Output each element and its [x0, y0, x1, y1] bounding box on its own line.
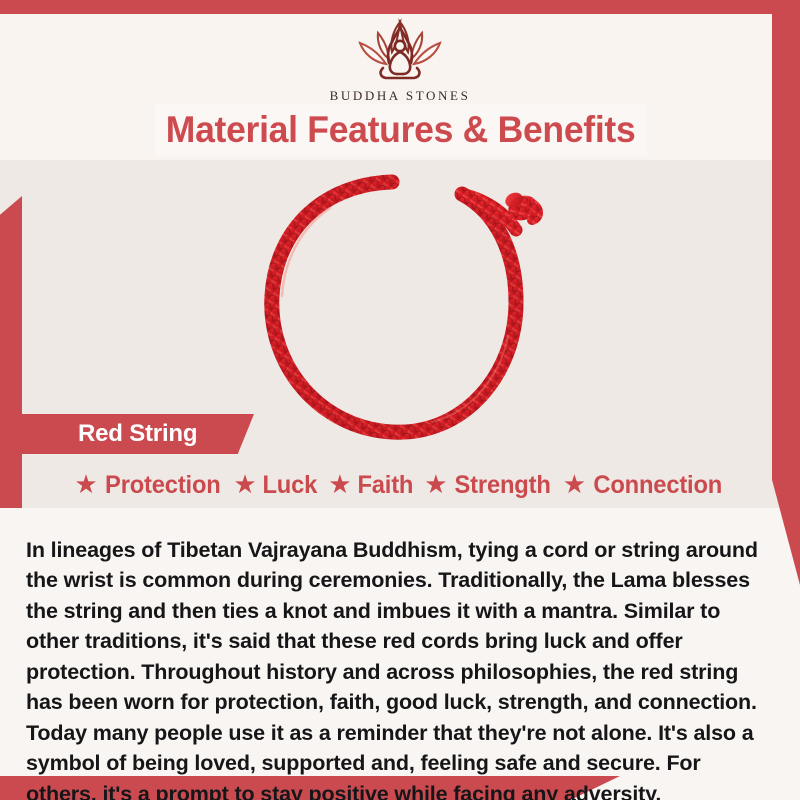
benefit-label: Strength	[454, 471, 550, 500]
decorative-bar-top	[0, 0, 800, 14]
lotus-meditation-icon	[334, 16, 466, 86]
star-icon: ★	[328, 471, 351, 497]
brand-name: BUDDHA STONES	[330, 88, 471, 104]
product-label-text: Red String	[22, 420, 197, 448]
benefit-label: Faith	[357, 471, 413, 500]
page-title-text: Material Features & Benefits	[166, 109, 636, 151]
star-icon: ★	[74, 471, 97, 497]
benefit-item-connection: ★ Connection	[563, 471, 726, 500]
benefit-item-faith: ★ Faith	[328, 471, 414, 500]
brand-logo: BUDDHA STONES	[0, 16, 800, 104]
benefit-label: Connection	[593, 471, 722, 500]
benefit-item-protection: ★ Protection	[74, 471, 223, 500]
benefit-item-strength: ★ Strength	[424, 471, 552, 500]
benefits-row: ★ Protection ★ Luck ★ Faith ★ Strength ★…	[30, 466, 770, 504]
star-icon: ★	[233, 471, 256, 497]
description-paragraph: In lineages of Tibetan Vajrayana Buddhis…	[26, 535, 772, 800]
benefit-label: Luck	[262, 471, 317, 500]
page-title: Material Features & Benefits	[155, 104, 647, 156]
decorative-bar-left	[0, 196, 22, 508]
benefit-item-luck: ★ Luck	[233, 471, 318, 500]
product-label-ribbon: Red String	[22, 414, 254, 454]
infographic-page: BUDDHA STONES Material Features & Benefi…	[0, 0, 800, 800]
benefit-label: Protection	[105, 471, 221, 500]
product-image	[180, 160, 620, 510]
star-icon: ★	[563, 471, 586, 497]
star-icon: ★	[424, 471, 447, 497]
